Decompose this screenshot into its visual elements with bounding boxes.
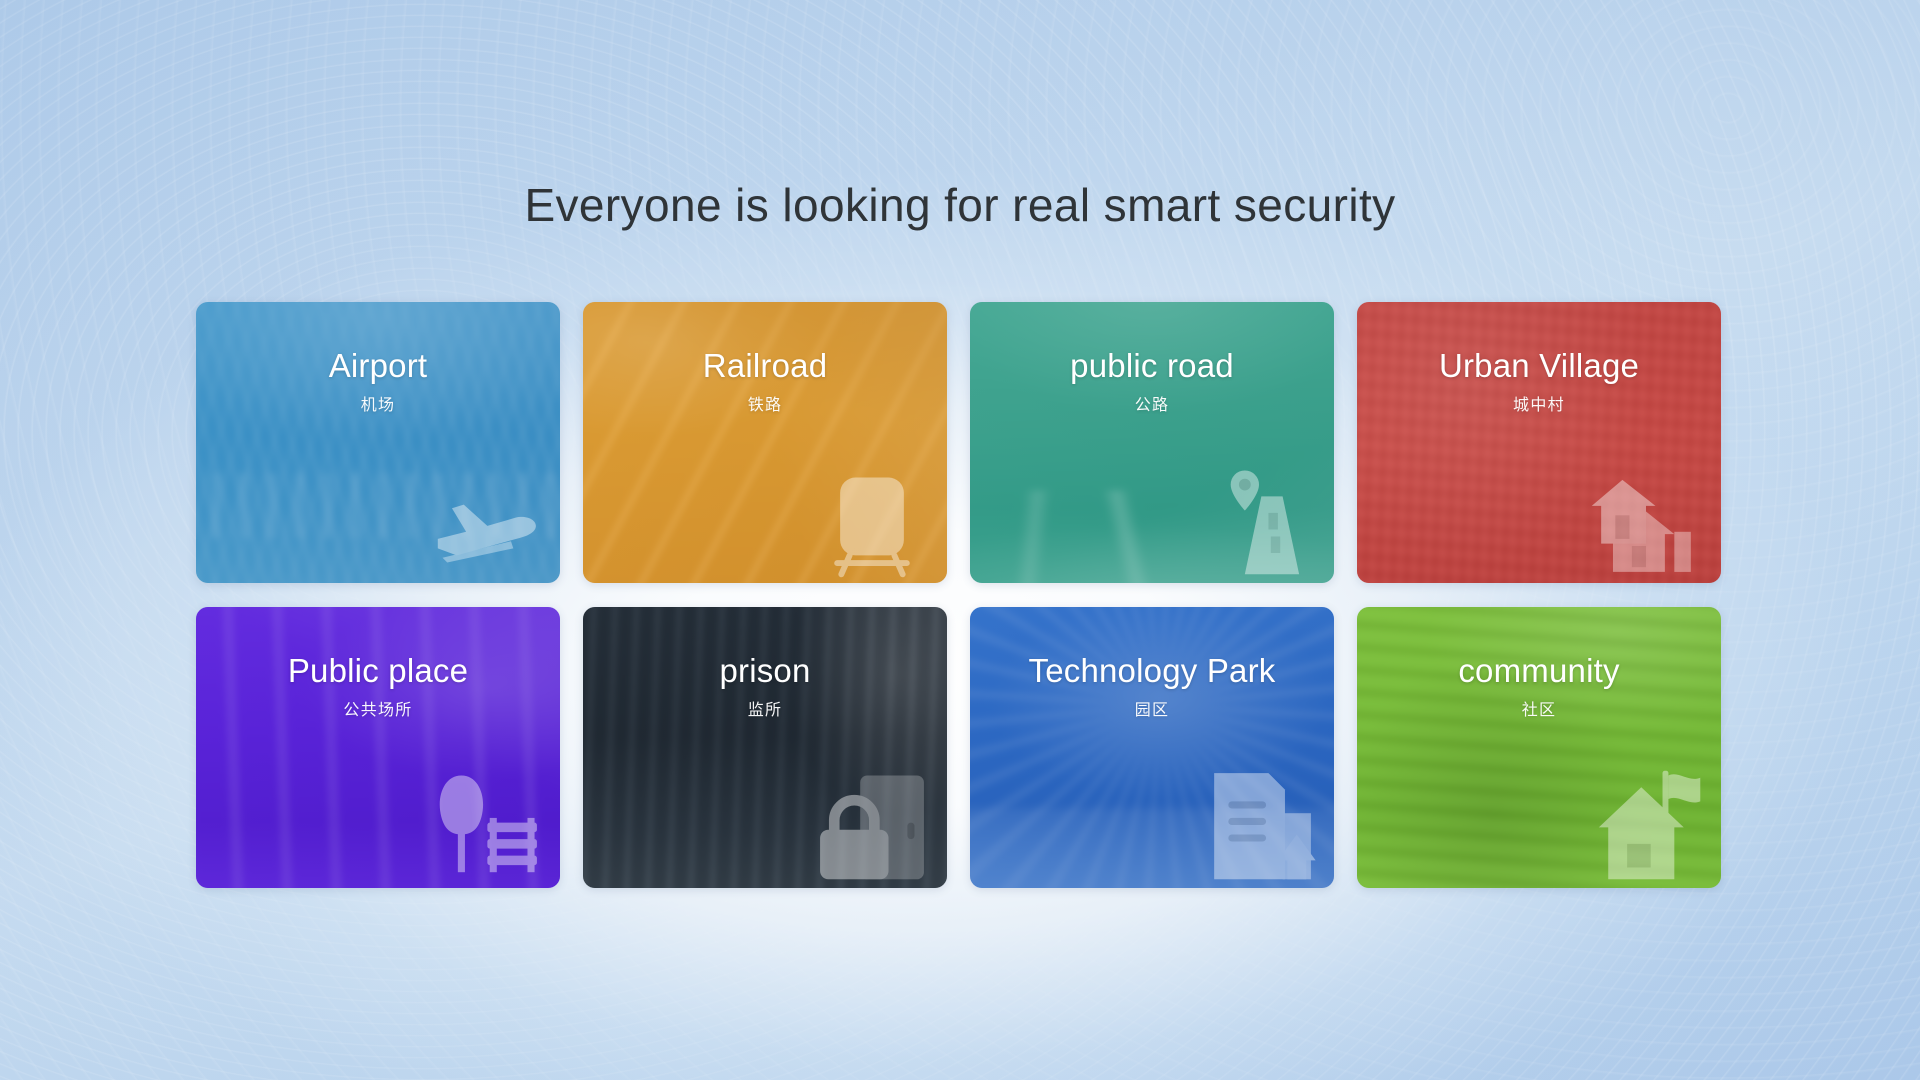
card-subtitle: 机场	[196, 391, 560, 415]
scenario-card-grid: Airport机场 Railroad铁路 public road公路 Urban…	[196, 302, 1722, 888]
card-subtitle: 社区	[1357, 696, 1721, 720]
card-title: community	[1357, 654, 1721, 689]
card-subtitle: 铁路	[583, 391, 947, 415]
card-text-block: Public place公共场所	[196, 654, 560, 720]
card-subtitle: 监所	[583, 696, 947, 720]
card-subtitle: 城中村	[1357, 391, 1721, 415]
card-title: Railroad	[583, 349, 947, 384]
card-text-block: Technology Park园区	[970, 654, 1334, 720]
scenario-card-technology-park[interactable]: Technology Park园区	[970, 607, 1334, 888]
scenario-card-urban-village[interactable]: Urban Village城中村	[1357, 302, 1721, 583]
card-title: Urban Village	[1357, 349, 1721, 384]
house-flag-icon	[1587, 766, 1705, 884]
road-pin-icon	[1200, 461, 1318, 579]
card-text-block: Airport机场	[196, 349, 560, 415]
tree-bench-icon	[426, 766, 544, 884]
scenario-card-public-place[interactable]: Public place公共场所	[196, 607, 560, 888]
scenario-card-railroad[interactable]: Railroad铁路	[583, 302, 947, 583]
padlock-door-icon	[813, 766, 931, 884]
card-title: Technology Park	[970, 654, 1334, 689]
card-text-block: Railroad铁路	[583, 349, 947, 415]
scenario-card-public-road[interactable]: public road公路	[970, 302, 1334, 583]
card-title: Airport	[196, 349, 560, 384]
card-title: prison	[583, 654, 947, 689]
card-subtitle: 公路	[970, 391, 1334, 415]
page-title: Everyone is looking for real smart secur…	[0, 182, 1920, 228]
card-title: Public place	[196, 654, 560, 689]
scenario-card-prison[interactable]: prison监所	[583, 607, 947, 888]
card-subtitle: 园区	[970, 696, 1334, 720]
page-root: Everyone is looking for real smart secur…	[0, 0, 1920, 1080]
scenario-card-airport[interactable]: Airport机场	[196, 302, 560, 583]
airplane-icon	[426, 461, 544, 579]
office-building-tree-icon	[1200, 766, 1318, 884]
card-text-block: public road公路	[970, 349, 1334, 415]
train-icon	[813, 461, 931, 579]
card-text-block: prison监所	[583, 654, 947, 720]
card-text-block: community社区	[1357, 654, 1721, 720]
card-subtitle: 公共场所	[196, 696, 560, 720]
houses-icon	[1587, 461, 1705, 579]
card-title: public road	[970, 349, 1334, 384]
scenario-card-community[interactable]: community社区	[1357, 607, 1721, 888]
card-text-block: Urban Village城中村	[1357, 349, 1721, 415]
